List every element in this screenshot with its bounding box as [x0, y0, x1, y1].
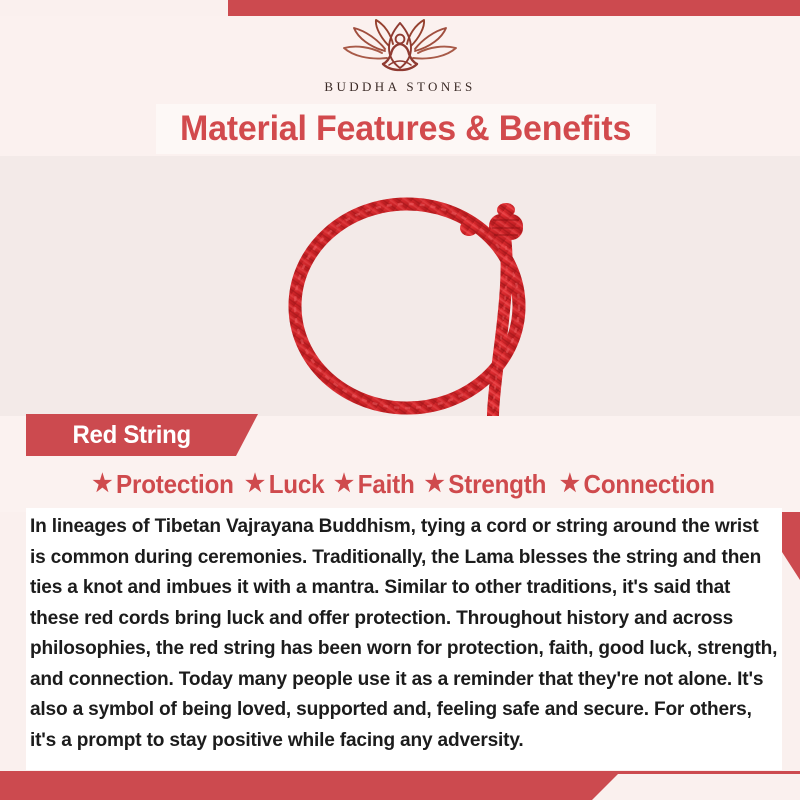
- star-icon: ★: [334, 472, 354, 496]
- brand-logo: BUDDHA STONES: [0, 18, 800, 100]
- benefit-item-strength: ★ Strength: [425, 469, 547, 500]
- benefit-label: Faith: [358, 469, 415, 500]
- benefit-label: Strength: [449, 469, 547, 500]
- product-image-red-string-bracelet: [255, 158, 585, 428]
- section-label-banner: Red String: [26, 414, 258, 456]
- benefit-item-connection: ★ Connection: [560, 469, 715, 500]
- benefit-label: Protection: [116, 469, 234, 500]
- page-title: Material Features & Benefits: [180, 109, 631, 149]
- star-icon: ★: [93, 472, 113, 496]
- benefit-item-faith: ★ Faith: [334, 469, 415, 500]
- benefit-item-luck: ★ Luck: [245, 469, 324, 500]
- decor-bar-bottom: [0, 772, 620, 800]
- benefit-label: Luck: [269, 469, 325, 500]
- star-icon: ★: [425, 472, 445, 496]
- benefits-list: ★ Protection ★ Luck ★ Faith ★ Strength ★…: [26, 462, 782, 506]
- title-banner: Material Features & Benefits: [156, 104, 656, 154]
- star-icon: ★: [560, 472, 580, 496]
- section-label: Red String: [72, 421, 190, 450]
- brand-name: BUDDHA STONES: [324, 79, 475, 95]
- description-paragraph: In lineages of Tibetan Vajrayana Buddhis…: [26, 512, 782, 756]
- lotus-meditation-figure-icon: [325, 18, 475, 78]
- star-icon: ★: [245, 472, 265, 496]
- poster-root: BUDDHA STONES Material Features & Benefi…: [0, 0, 800, 800]
- benefit-item-protection: ★ Protection: [93, 469, 234, 500]
- benefit-label: Connection: [584, 469, 715, 500]
- decor-bar-top: [228, 0, 800, 16]
